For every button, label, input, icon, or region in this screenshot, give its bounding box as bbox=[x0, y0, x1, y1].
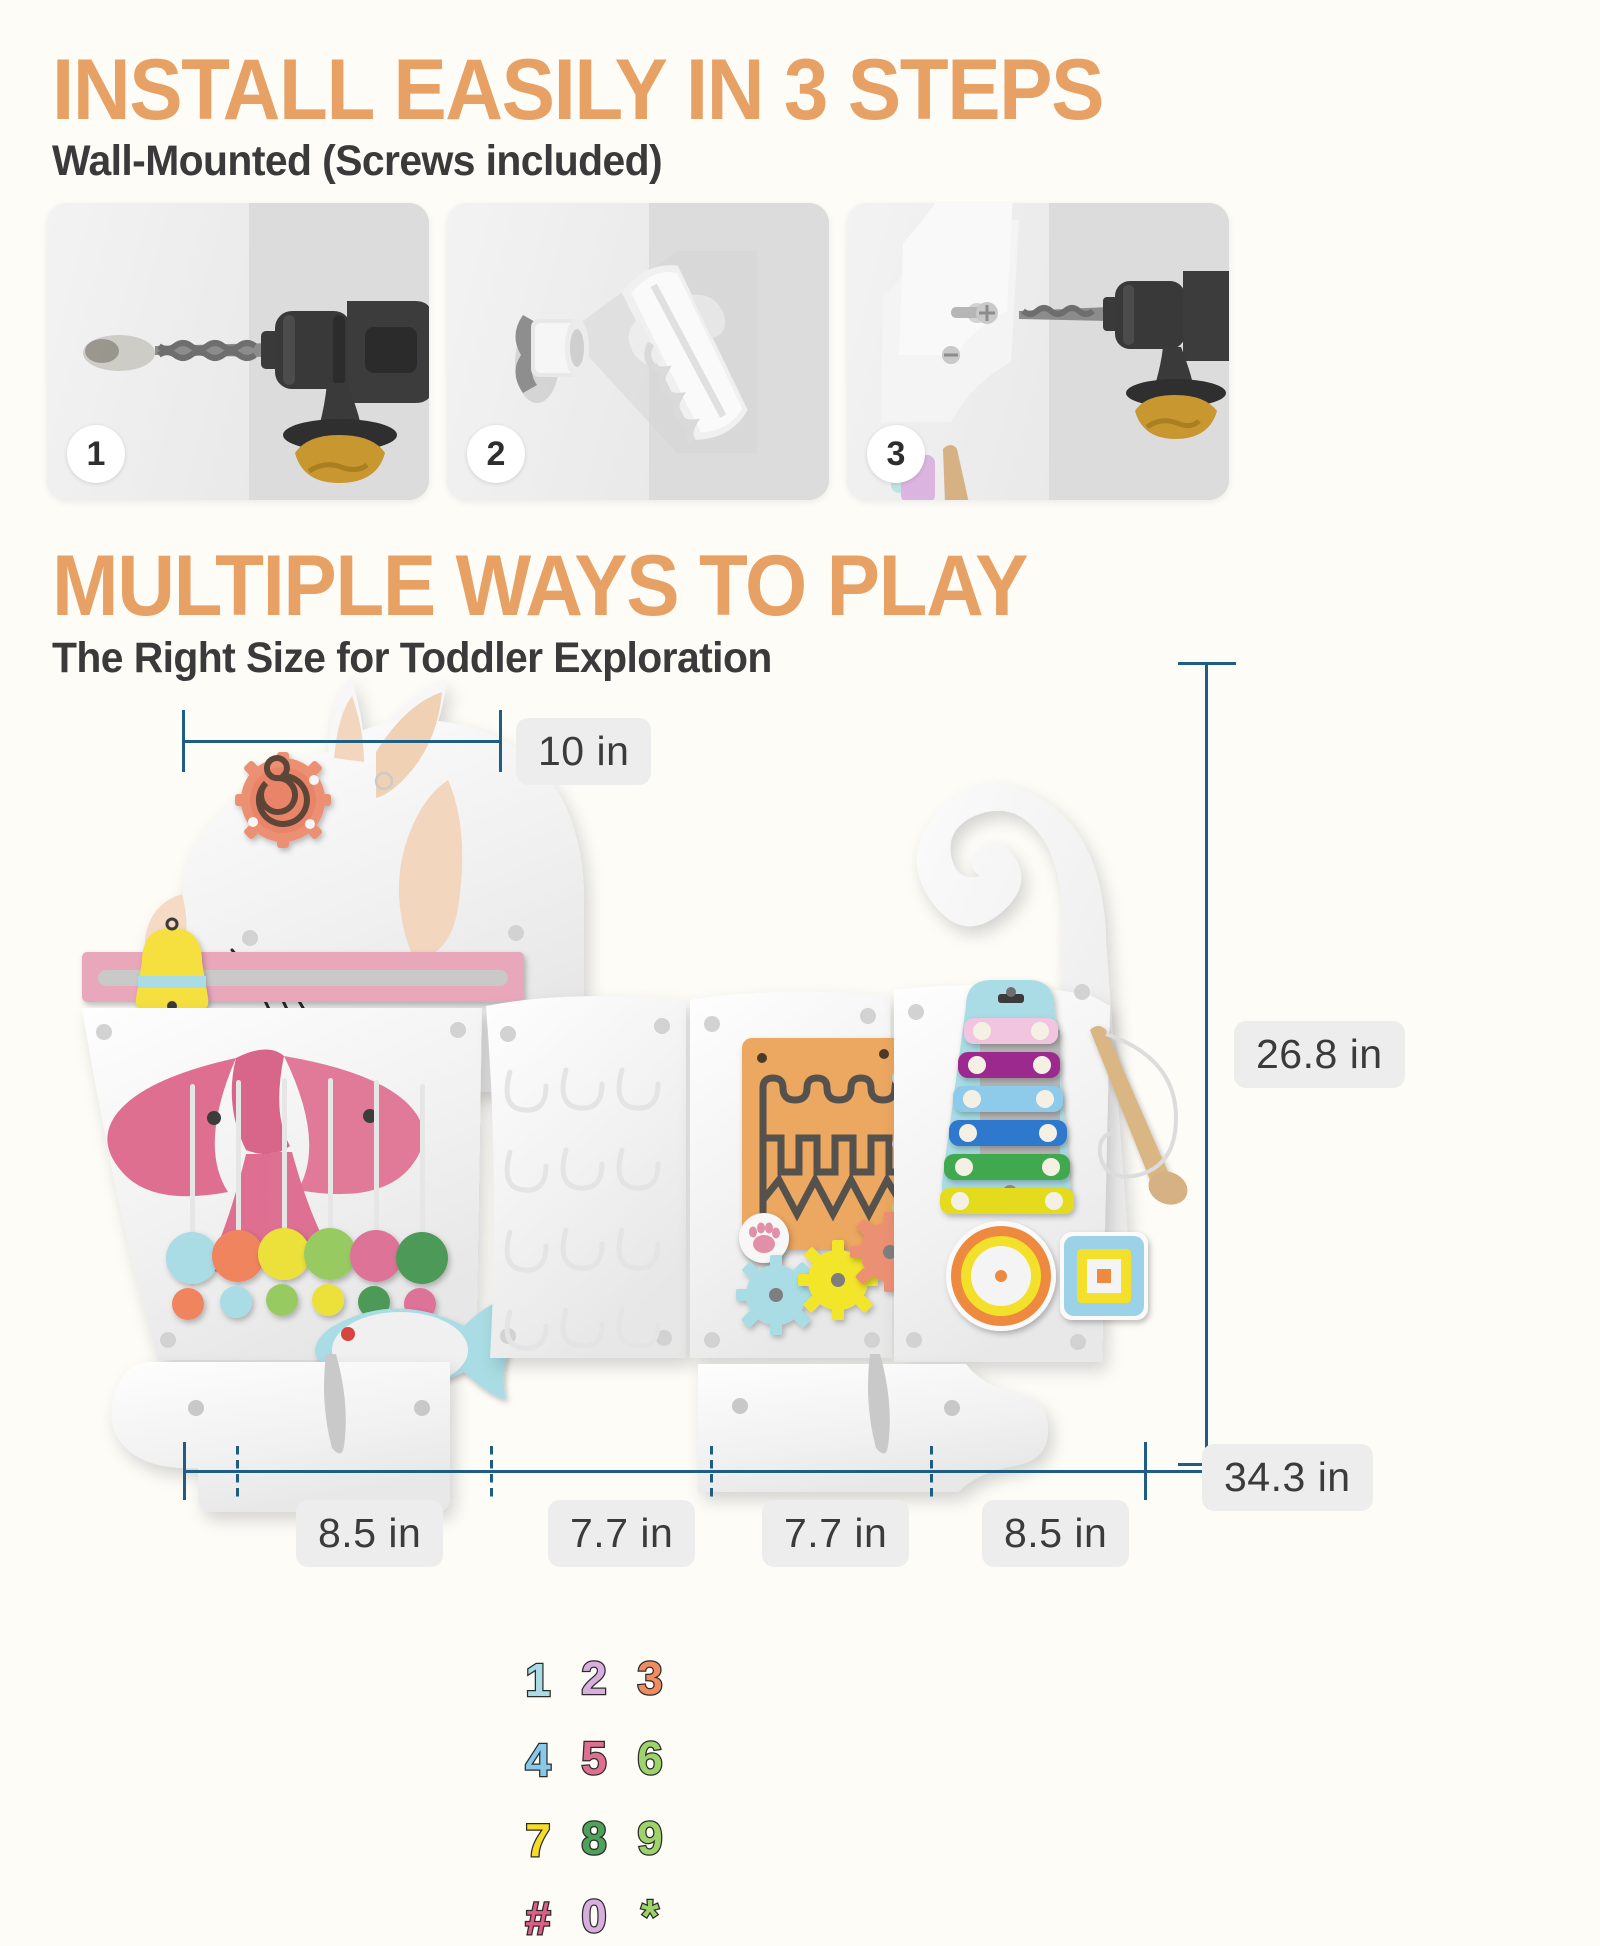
number-chip-6[interactable]: 6 bbox=[622, 1730, 678, 1786]
total-width-dimension-line bbox=[183, 1470, 1205, 1473]
install-section-title: INSTALL EASILY IN 3 STEPS bbox=[52, 47, 1103, 133]
segment-label-3: 7.7 in bbox=[762, 1500, 909, 1567]
segment-tick-1 bbox=[236, 1446, 239, 1500]
number-chip-3[interactable]: 3 bbox=[622, 1650, 678, 1706]
number-chip-1[interactable]: 1 bbox=[510, 1652, 566, 1708]
cat-board-svg bbox=[0, 640, 1600, 1540]
number-chip-9[interactable]: 9 bbox=[622, 1810, 678, 1866]
number-chip-0[interactable]: 0 bbox=[566, 1888, 622, 1944]
head-width-cap-right bbox=[499, 710, 502, 772]
install-step-3-card: 3 bbox=[847, 203, 1229, 500]
segment-label-4: 8.5 in bbox=[982, 1500, 1129, 1567]
segment-tick-4 bbox=[930, 1446, 933, 1500]
total-height-label: 26.8 in bbox=[1234, 1021, 1405, 1088]
segment-tick-2 bbox=[490, 1446, 493, 1500]
segment-label-1: 8.5 in bbox=[296, 1500, 443, 1567]
segment-tick-3 bbox=[710, 1446, 713, 1500]
head-width-cap-left bbox=[182, 710, 185, 772]
total-width-cap-right bbox=[1144, 1442, 1147, 1500]
total-width-cap-left bbox=[183, 1442, 186, 1500]
install-steps-row: 1 bbox=[47, 203, 1229, 500]
head-width-dimension-line bbox=[182, 740, 502, 743]
install-section-subtitle: Wall-Mounted (Screws included) bbox=[52, 140, 662, 183]
number-chip-hash[interactable]: # bbox=[510, 1890, 566, 1946]
number-chip-2[interactable]: 2 bbox=[566, 1650, 622, 1706]
number-chip-4[interactable]: 4 bbox=[510, 1732, 566, 1788]
install-step-2-card: 2 bbox=[447, 203, 829, 500]
infographic-page: INSTALL EASILY IN 3 STEPS Wall-Mounted (… bbox=[0, 0, 1600, 1600]
number-chip-5[interactable]: 5 bbox=[566, 1730, 622, 1786]
spiral-gear-toy bbox=[235, 752, 331, 848]
total-height-dimension-line bbox=[1205, 662, 1208, 1466]
cat-busy-board-illustration: 1 2 3 4 5 6 7 8 9 # 0 * bbox=[0, 640, 1600, 1540]
play-section-title: MULTIPLE WAYS TO PLAY bbox=[52, 543, 1027, 629]
install-step-1-card: 1 bbox=[47, 203, 429, 500]
number-chip-8[interactable]: 8 bbox=[566, 1810, 622, 1866]
head-width-label: 10 in bbox=[516, 718, 651, 785]
step-number-badge: 3 bbox=[867, 425, 925, 483]
total-width-label: 34.3 in bbox=[1202, 1444, 1373, 1511]
step-number-badge: 2 bbox=[467, 425, 525, 483]
number-chip-7[interactable]: 7 bbox=[510, 1812, 566, 1868]
number-chip-star[interactable]: * bbox=[622, 1888, 678, 1944]
total-height-cap-top bbox=[1178, 662, 1236, 665]
step-number-badge: 1 bbox=[67, 425, 125, 483]
cat-tail bbox=[917, 784, 1128, 1244]
segment-label-2: 7.7 in bbox=[548, 1500, 695, 1567]
